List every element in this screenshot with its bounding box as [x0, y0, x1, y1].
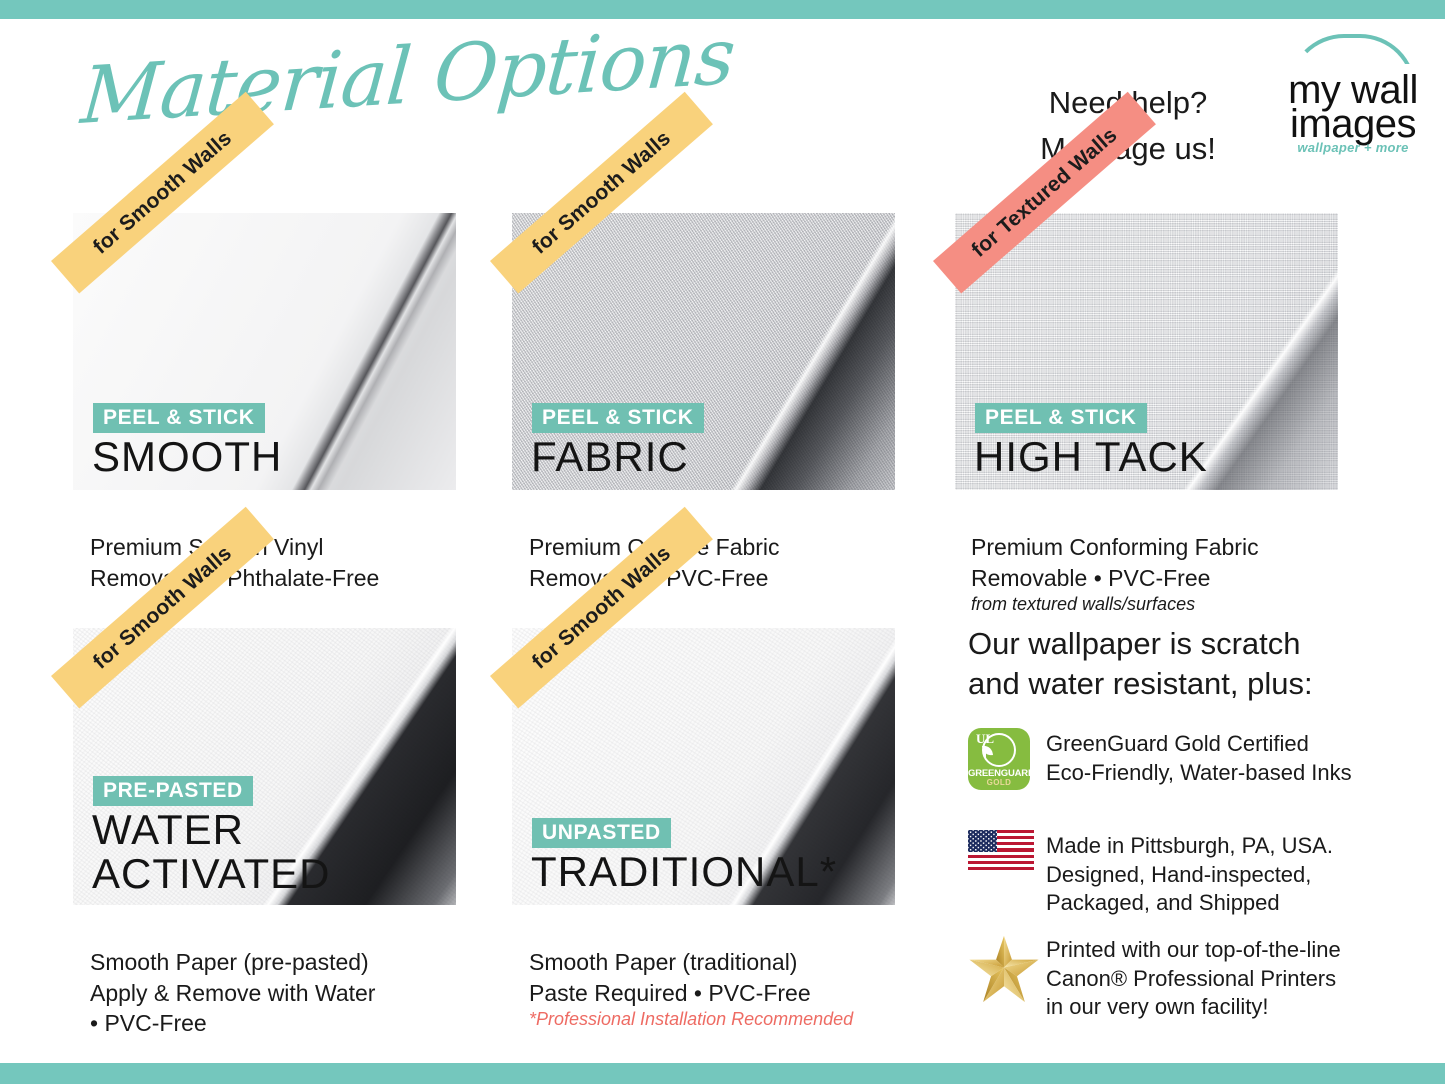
bottom-accent-bar — [0, 1063, 1445, 1084]
card-title: HIGH TACK — [974, 435, 1208, 479]
desc-text: Premium Conforming Fabric Removable • PV… — [971, 534, 1259, 590]
card-description-water-activated: Smooth Paper (pre-pasted) Apply & Remove… — [90, 917, 510, 1038]
logo-line-2: images — [1278, 104, 1428, 144]
material-card-fabric[interactable]: for Smooth Walls PEEL & STICK FABRIC — [512, 213, 895, 490]
card-description-fabric: Premium Opaque Fabric Removable • PVC-Fr… — [529, 502, 929, 593]
logo-tagline: wallpaper + more — [1278, 140, 1428, 155]
feature-canon-printers: Printed with our top-of-the-line Canon® … — [968, 934, 1398, 1022]
brand-logo: my wall images wallpaper + more — [1278, 32, 1428, 160]
gold-star-svg — [968, 934, 1040, 1004]
gold-star-icon — [968, 934, 1046, 1022]
feature-text: Printed with our top-of-the-line Canon® … — [1046, 934, 1341, 1022]
features-heading: Our wallpaper is scratch and water resis… — [968, 624, 1388, 703]
card-badge: PEEL & STICK — [93, 403, 265, 433]
greenguard-gold-badge-icon: UL GREENGUARD GOLD — [968, 728, 1046, 790]
feature-text: GreenGuard Gold Certified Eco-Friendly, … — [1046, 728, 1352, 790]
material-card-traditional[interactable]: for Smooth Walls UNPASTED TRADITIONAL* — [512, 628, 895, 905]
card-badge: UNPASTED — [532, 818, 671, 848]
card-title: WATER ACTIVATED — [92, 808, 330, 895]
feature-text: Made in Pittsburgh, PA, USA. Designed, H… — [1046, 830, 1333, 918]
card-badge: PRE-PASTED — [93, 776, 253, 806]
card-title: TRADITIONAL* — [531, 850, 837, 894]
greenguard-ul-text: UL — [968, 731, 1002, 747]
desc-note: from textured walls/surfaces — [971, 593, 1391, 616]
feature-greenguard: UL GREENGUARD GOLD GreenGuard Gold Certi… — [968, 728, 1398, 790]
material-card-water-activated[interactable]: for Smooth Walls PRE-PASTED WATER ACTIVA… — [73, 628, 456, 905]
card-title: FABRIC — [531, 435, 689, 479]
greenguard-level-text: GOLD — [968, 778, 1030, 787]
usa-flag-icon — [968, 830, 1046, 918]
card-description-traditional: Smooth Paper (traditional) Paste Require… — [529, 917, 949, 1062]
card-badge: PEEL & STICK — [532, 403, 704, 433]
desc-text: Smooth Paper (pre-pasted) Apply & Remove… — [90, 949, 375, 1036]
card-title: SMOOTH — [92, 435, 282, 479]
feature-made-in-usa: Made in Pittsburgh, PA, USA. Designed, H… — [968, 830, 1398, 918]
card-badge: PEEL & STICK — [975, 403, 1147, 433]
material-card-smooth[interactable]: for Smooth Walls PEEL & STICK SMOOTH — [73, 213, 456, 490]
desc-note-warning: *Professional Installation Recommended — [529, 1008, 949, 1031]
card-description-smooth: Premium Smooth Vinyl Removable • Phthala… — [90, 502, 490, 593]
page-title: Material Options — [78, 11, 738, 142]
desc-text: Smooth Paper (traditional) Paste Require… — [529, 949, 811, 1005]
material-card-high-tack[interactable]: for Textured Walls PEEL & STICK HIGH TAC… — [955, 213, 1338, 490]
